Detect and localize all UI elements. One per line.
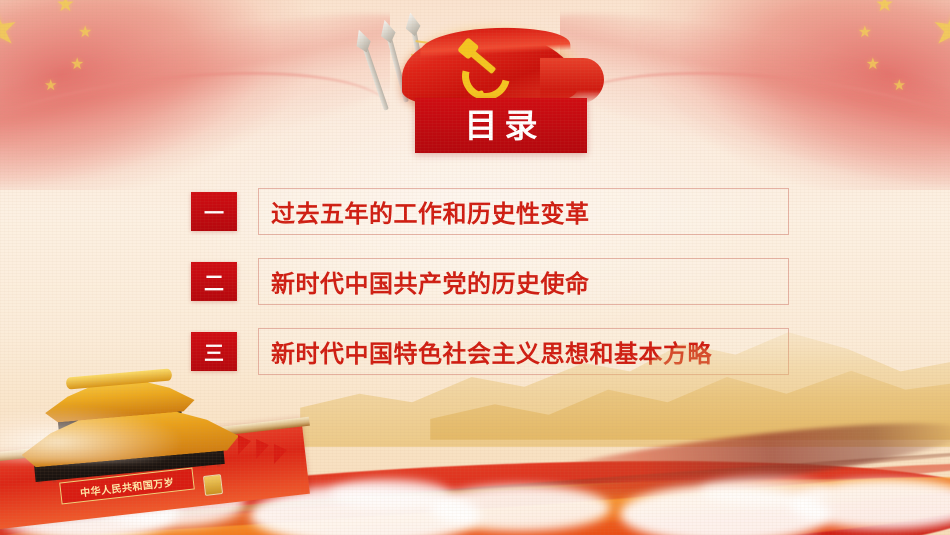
item-label: 过去五年的工作和历史性变革 [259,194,590,229]
cloud-shape [700,477,830,505]
flag-wash-left: ★ ★ ★ ★ ★ [0,0,390,190]
flag-star-icon: ★ [893,78,906,93]
item-label: 新时代中国特色社会主义思想和基本方略 [259,334,712,369]
item-text-box[interactable]: 新时代中国共产党的历史使命 [258,258,789,305]
small-flag-icon [238,435,251,455]
national-emblem-icon [203,474,223,496]
page-title: 目录 [415,98,587,153]
small-flag-icon [256,439,269,459]
hammer-and-sickle-icon [456,48,508,92]
small-flags-group [238,435,308,481]
slide-canvas: ★ ★ ★ ★ ★ ★ ★ ★ ★ ★ 目录 一 [0,0,950,535]
flag-star-icon: ★ [56,0,75,15]
flag-star-icon: ★ [858,24,872,40]
spear-tip-icon [377,18,398,45]
cloud-shape [430,485,610,531]
item-label: 新时代中国共产党的历史使命 [259,264,590,299]
item-number-badge: 二 [191,262,237,301]
cloud-shape [330,479,450,509]
item-number-badge: 一 [191,192,237,231]
item-number-badge: 三 [191,332,237,371]
list-item[interactable]: 二 新时代中国共产党的历史使命 [191,256,789,306]
flag-star-icon: ★ [44,78,57,93]
flag-star-icon: ★ [70,56,84,72]
spear-tip-icon [403,11,422,37]
flag-star-icon: ★ [875,0,894,15]
small-flag-icon [274,444,287,464]
page-title-text: 目录 [458,109,545,142]
flag-star-icon: ★ [78,24,92,40]
item-text-box[interactable]: 过去五年的工作和历史性变革 [258,188,789,235]
flag-star-icon: ★ [866,56,880,72]
list-item[interactable]: 一 过去五年的工作和历史性变革 [191,186,789,236]
